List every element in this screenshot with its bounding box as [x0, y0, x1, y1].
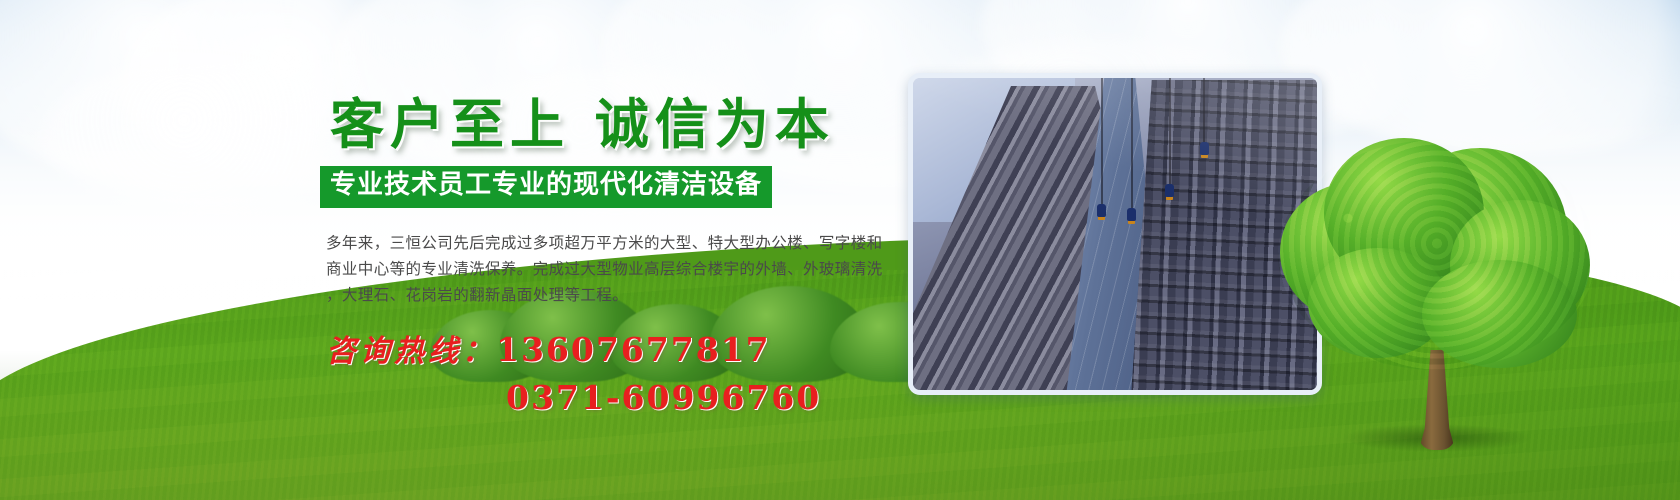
foreground-tree — [1272, 130, 1602, 460]
rope-access-worker — [1127, 208, 1136, 221]
access-rope — [1169, 78, 1171, 190]
access-rope — [1131, 78, 1133, 214]
hotline-label: 咨询热线： — [326, 334, 496, 369]
headline: 客户至上 诚信为本 — [330, 96, 900, 152]
rope-access-worker — [1097, 204, 1106, 217]
rope-access-worker — [1200, 142, 1209, 155]
description-paragraph: 多年来，三恒公司先后完成过多项超万平方米的大型、特大型办公楼、写字楼和 商业中心… — [326, 230, 892, 308]
hotline-landline-number[interactable]: 0371-60996760 — [506, 378, 900, 417]
highrise-cleaning-photo — [913, 78, 1317, 390]
description-line-1: 多年来，三恒公司先后完成过多项超万平方米的大型、特大型办公楼、写字楼和 — [326, 230, 892, 256]
hotline-mobile-number[interactable]: 13607677817 — [496, 330, 771, 369]
description-line-3: ，大理石、花岗岩的翻新晶面处理等工程。 — [326, 282, 892, 308]
subtitle-bar: 专业技术员工专业的现代化清洁设备 — [320, 166, 772, 208]
building-photo-card — [908, 73, 1322, 395]
access-rope — [1101, 78, 1103, 210]
access-rope — [1203, 78, 1205, 148]
tree-foliage-texture — [1278, 140, 1596, 370]
rope-access-worker — [1165, 184, 1174, 197]
promo-banner: 客户至上 诚信为本 专业技术员工专业的现代化清洁设备 多年来，三恒公司先后完成过… — [0, 0, 1680, 500]
banner-copy: 客户至上 诚信为本 专业技术员工专业的现代化清洁设备 多年来，三恒公司先后完成过… — [320, 96, 900, 417]
hotline-block: 咨询热线：13607677817 0371-60996760 — [326, 326, 900, 417]
description-line-2: 商业中心等的专业清洗保养。完成过大型物业高层综合楼宇的外墙、外玻璃清洗 — [326, 256, 892, 282]
